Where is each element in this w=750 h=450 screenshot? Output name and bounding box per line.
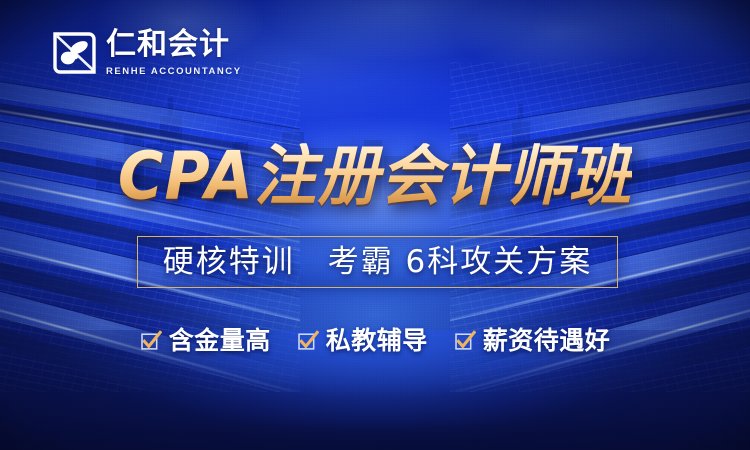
checkbox-checked-icon (297, 330, 319, 352)
feature-label: 薪资待遇好 (483, 328, 611, 353)
subtitle-box: 硬核特训 考霸 6科攻关方案 (137, 236, 618, 288)
headline: CPA注册会计师班 (0, 145, 750, 207)
feature-label: 私教辅导 (326, 328, 428, 353)
brand-logo-text: 仁和会计 RENHE ACCOUNTANCY (106, 30, 242, 77)
headline-text: CPA注册会计师班 (118, 143, 632, 209)
renhe-abacus-mark-icon (52, 30, 98, 76)
brand-logo[interactable]: 仁和会计 RENHE ACCOUNTANCY (52, 30, 242, 77)
feature-item-3: 薪资待遇好 (454, 328, 611, 353)
feature-item-2: 私教辅导 (297, 328, 428, 353)
feature-item-1: 含金量高 (140, 328, 271, 353)
cpa-course-banner: 仁和会计 RENHE ACCOUNTANCY CPA注册会计师班 硬核特训 考霸… (0, 0, 750, 450)
checkbox-checked-icon (454, 330, 476, 352)
feature-list: 含金量高 私教辅导 薪资待遇好 (0, 328, 750, 353)
brand-name-cn: 仁和会计 (106, 30, 242, 60)
brand-name-en: RENHE ACCOUNTANCY (106, 67, 242, 77)
checkbox-checked-icon (140, 330, 162, 352)
feature-label: 含金量高 (169, 328, 271, 353)
subtitle-text: 硬核特训 考霸 6科攻关方案 (163, 247, 593, 278)
